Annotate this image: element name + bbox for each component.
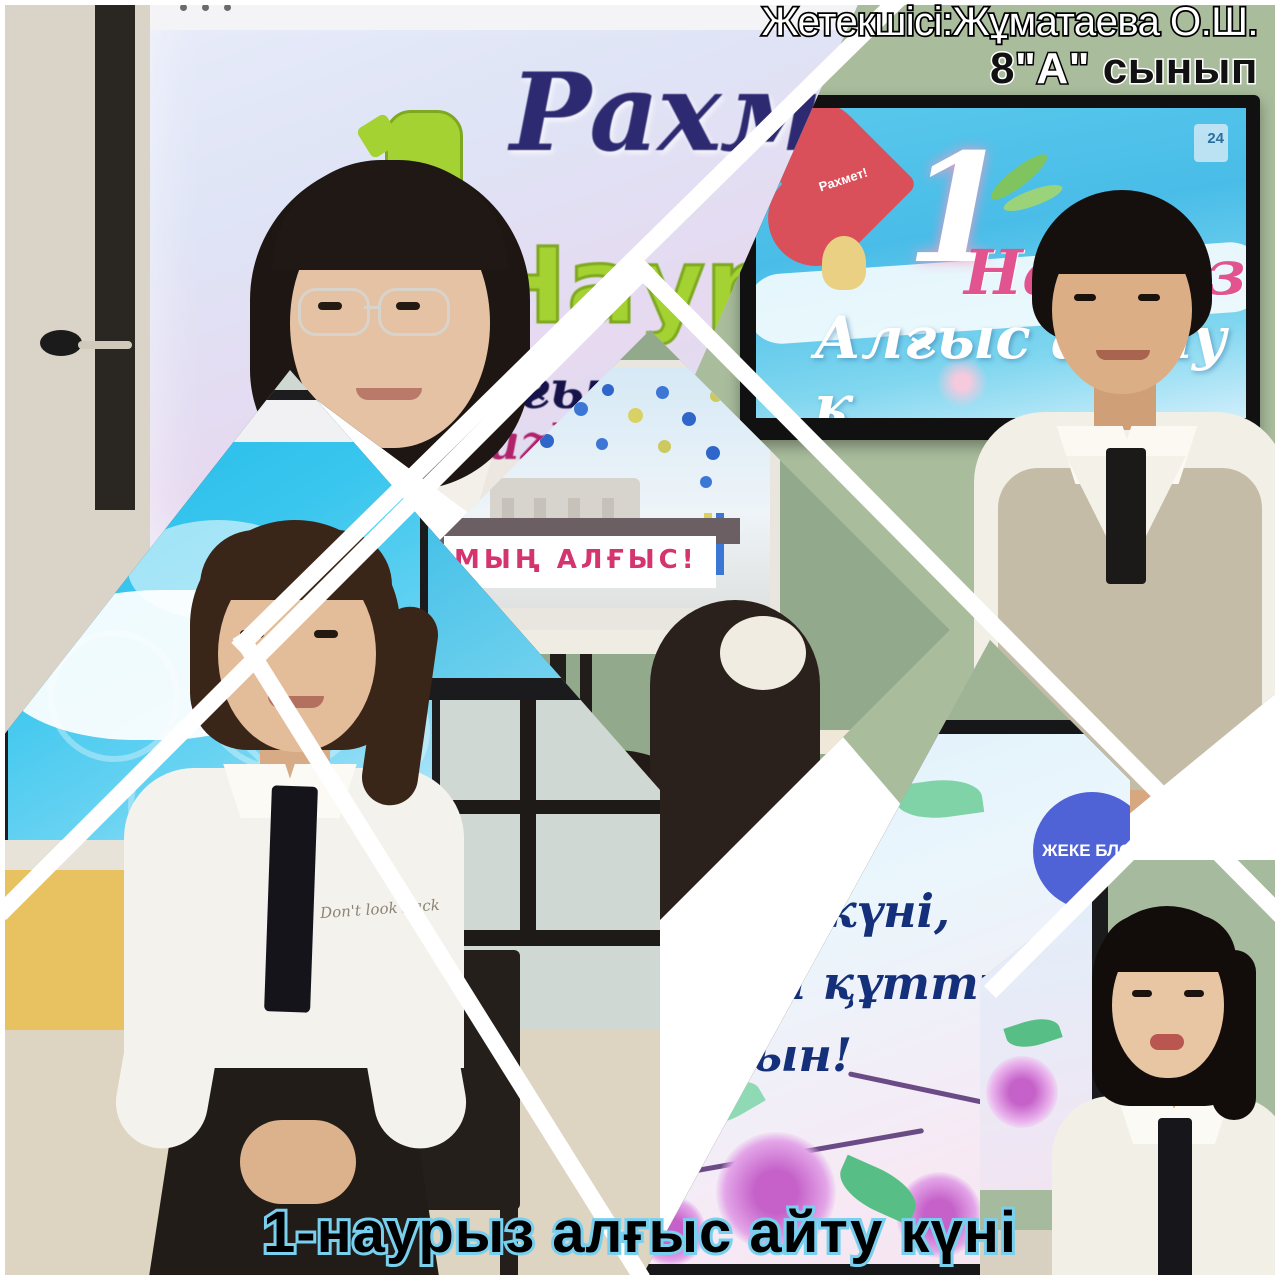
tulip-icon bbox=[822, 236, 866, 290]
student-girl-speaking bbox=[1050, 906, 1280, 1280]
hair-scrunchie bbox=[720, 616, 806, 690]
slide-banner: МЫҢ АЛҒЫС! bbox=[444, 536, 716, 588]
border-right bbox=[1275, 0, 1280, 1280]
channel-logo-label: 24 bbox=[1207, 130, 1224, 147]
door-frame bbox=[95, 0, 135, 510]
border-left bbox=[0, 0, 5, 1280]
door-handle bbox=[78, 341, 132, 349]
border-bottom bbox=[0, 1275, 1280, 1280]
border-top bbox=[0, 0, 1280, 5]
photo-collage: Рахмет Наурыз Алғыс alazhab.kz bbox=[0, 0, 1280, 1280]
banner-text: МЫҢ АЛҒЫС! bbox=[454, 545, 698, 575]
door-knob bbox=[40, 330, 82, 356]
eyeglasses-icon bbox=[298, 288, 370, 336]
slide-line-2: у» күні құтты bbox=[626, 956, 1026, 1010]
